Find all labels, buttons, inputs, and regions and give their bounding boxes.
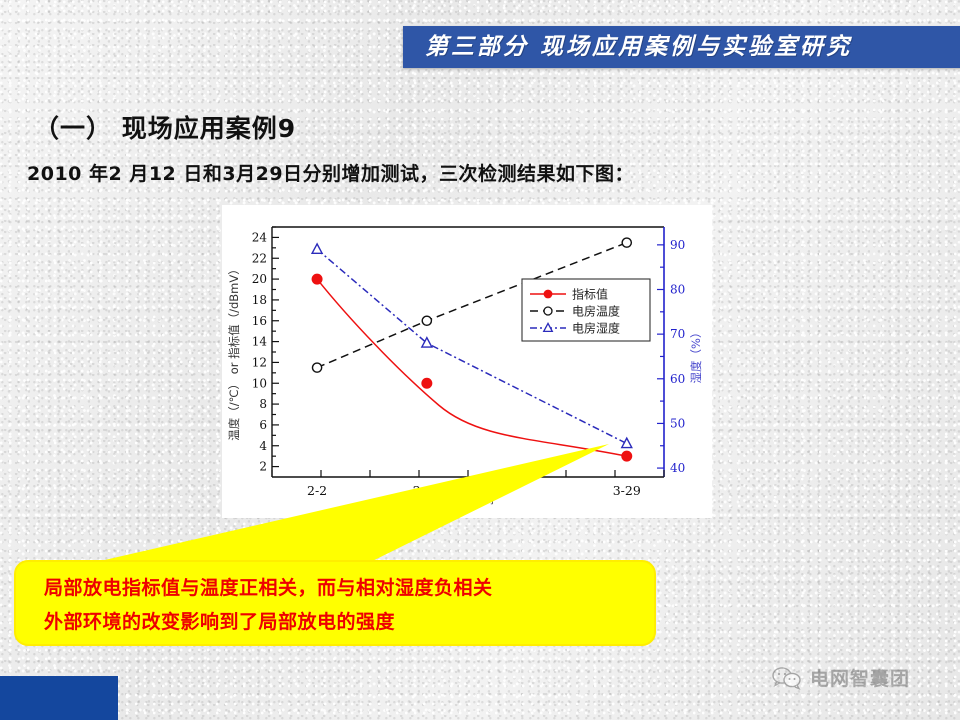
svg-text:8: 8	[259, 397, 267, 411]
svg-text:14: 14	[252, 335, 268, 349]
page-title: （一） 现场应用案例9	[34, 109, 296, 145]
svg-text:12: 12	[252, 355, 267, 369]
svg-text:60: 60	[670, 372, 685, 386]
chart-background	[222, 205, 712, 518]
chart-canvas: 24681012141618202224 405060708090 2-22-1…	[222, 205, 712, 518]
svg-text:电房湿度: 电房湿度	[572, 321, 620, 336]
svg-text:16: 16	[252, 314, 267, 328]
section-banner: 第三部分 现场应用案例与实验室研究	[403, 26, 960, 68]
svg-text:指标值: 指标值	[572, 287, 608, 302]
y-axis-label: 温度（/℃） or 指标值（/dBmV）	[227, 263, 241, 441]
svg-text:20: 20	[252, 272, 267, 286]
svg-text:24: 24	[252, 230, 268, 244]
svg-text:电房温度: 电房温度	[572, 304, 620, 319]
page-subtitle: 2010 年2 月12 日和3月29日分别增加测试，三次检测结果如下图：	[27, 159, 634, 186]
svg-text:22: 22	[252, 251, 267, 265]
svg-text:2-12: 2-12	[413, 483, 441, 498]
svg-text:80: 80	[670, 283, 685, 297]
svg-text:70: 70	[670, 327, 685, 341]
svg-text:10: 10	[252, 376, 267, 390]
svg-text:18: 18	[252, 293, 267, 307]
callout-box: 局部放电指标值与温度正相关，而与相对湿度负相关 外部环境的改变影响到了局部放电的…	[14, 560, 656, 646]
svg-text:6: 6	[259, 418, 267, 432]
y2-axis-label: 湿度（%）	[689, 327, 703, 384]
svg-text:4: 4	[259, 439, 267, 453]
wechat-icon	[772, 666, 802, 690]
watermark: 电网智囊团	[772, 664, 910, 691]
section-banner-title: 第三部分 现场应用案例与实验室研究	[403, 26, 960, 68]
svg-text:3-29: 3-29	[613, 483, 641, 498]
callout-line-2: 外部环境的改变影响到了局部放电的强度	[44, 605, 654, 639]
svg-text:90: 90	[670, 238, 685, 252]
watermark-label: 电网智囊团	[810, 664, 910, 691]
svg-text:50: 50	[670, 416, 685, 430]
svg-text:40: 40	[670, 461, 685, 475]
footer-accent-block	[0, 676, 118, 720]
x-axis-label: 检测时间	[440, 491, 496, 506]
measurement-chart: 24681012141618202224 405060708090 2-22-1…	[222, 205, 712, 518]
callout-line-1: 局部放电指标值与温度正相关，而与相对湿度负相关	[44, 571, 654, 605]
svg-text:2: 2	[259, 460, 267, 474]
chart-legend: 指标值电房温度电房湿度	[522, 279, 650, 341]
svg-text:2-2: 2-2	[307, 483, 327, 498]
